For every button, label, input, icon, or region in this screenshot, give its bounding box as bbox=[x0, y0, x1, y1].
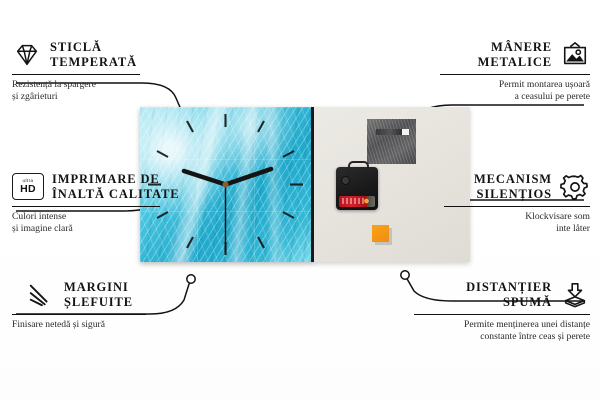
callout-subtitle-line2: a ceasului pe perete bbox=[440, 91, 590, 103]
callout-silent-mechanism: MECANISM SILENȚIOS Klockvisare som inte … bbox=[444, 172, 590, 234]
callout-divider bbox=[444, 206, 590, 207]
callout-title-line1: DISTANȚIER bbox=[466, 280, 552, 295]
callout-polished-edges: MARGINI ȘLEFUITE Finisare netedă și sigu… bbox=[12, 280, 146, 331]
callout-title-line2: METALICE bbox=[478, 55, 552, 70]
battery bbox=[339, 196, 375, 207]
callout-subtitle-line1: Klockvisare som bbox=[444, 211, 590, 223]
callout-tempered-glass: STICLĂ TEMPERATĂ Rezistență la spargere … bbox=[12, 40, 140, 102]
callout-subtitle-line1: Permit montarea ușoară bbox=[440, 79, 590, 91]
callout-subtitle-line2: și imagine clară bbox=[12, 223, 180, 235]
foam-spacer-pad bbox=[372, 225, 389, 242]
callout-divider bbox=[12, 314, 146, 315]
clock-hand-minute bbox=[226, 169, 272, 185]
picture-frame-icon bbox=[560, 41, 590, 69]
callout-title-line1: MECANISM bbox=[474, 172, 552, 187]
callout-title-line2: ÎNALTĂ CALITATE bbox=[52, 187, 180, 202]
callout-title-line1: IMPRIMARE DE bbox=[52, 172, 180, 187]
metal-hanger-plate bbox=[367, 119, 416, 164]
callout-subtitle-line1: Rezistență la spargere bbox=[12, 79, 140, 91]
callout-title-line2: TEMPERATĂ bbox=[50, 55, 137, 70]
product-photo bbox=[140, 107, 470, 262]
mechanism-dial bbox=[341, 176, 350, 185]
callout-title-line2: ȘLEFUITE bbox=[64, 295, 133, 310]
arrow-down-pad-icon bbox=[560, 281, 590, 309]
ultra-hd-badge-icon: ultra HD bbox=[12, 173, 44, 200]
mechanism-hook bbox=[348, 161, 369, 172]
diagonal-lines-icon bbox=[26, 281, 56, 309]
callout-subtitle-line1: Culori intense bbox=[12, 211, 180, 223]
callout-subtitle-line2: constante între ceas și perete bbox=[414, 331, 590, 343]
callout-title-line2: SILENȚIOS bbox=[474, 187, 552, 202]
diamond-icon bbox=[12, 41, 42, 69]
callout-subtitle-line2: și zgârieturi bbox=[12, 91, 140, 103]
callout-divider bbox=[12, 206, 160, 207]
callout-divider bbox=[440, 74, 590, 75]
hanger-slot bbox=[376, 129, 409, 135]
callout-title-line1: MARGINI bbox=[64, 280, 133, 295]
callout-foam-spacer: DISTANȚIER SPUMĂ Permite menținerea unei… bbox=[414, 280, 590, 342]
callout-divider bbox=[414, 314, 590, 315]
callout-subtitle-line2: inte låter bbox=[444, 223, 590, 235]
clock-hand-hour bbox=[184, 171, 226, 185]
badge-hd-text: HD bbox=[20, 184, 36, 195]
clock-mechanism-box bbox=[336, 167, 378, 210]
callout-title-line1: STICLĂ bbox=[50, 40, 137, 55]
battery-plus-terminal bbox=[363, 197, 370, 205]
connector-dot-foam-spacer bbox=[401, 271, 409, 279]
callout-high-quality-print: ultra HD IMPRIMARE DE ÎNALTĂ CALITATE Cu… bbox=[12, 172, 180, 234]
callout-subtitle-line1: Permite menținerea unei distanțe bbox=[414, 319, 590, 331]
callout-divider bbox=[12, 74, 140, 75]
callout-metal-handles: MÂNERE METALICE Permit montarea ușoară a… bbox=[440, 40, 590, 102]
gear-icon bbox=[560, 173, 590, 201]
callout-title-line2: SPUMĂ bbox=[466, 295, 552, 310]
infographic-canvas: STICLĂ TEMPERATĂ Rezistență la spargere … bbox=[0, 0, 600, 400]
connector-dot-polished-edges bbox=[187, 275, 195, 283]
callout-subtitle-line1: Finisare netedă și sigură bbox=[12, 319, 146, 331]
callout-title-line1: MÂNERE bbox=[478, 40, 552, 55]
